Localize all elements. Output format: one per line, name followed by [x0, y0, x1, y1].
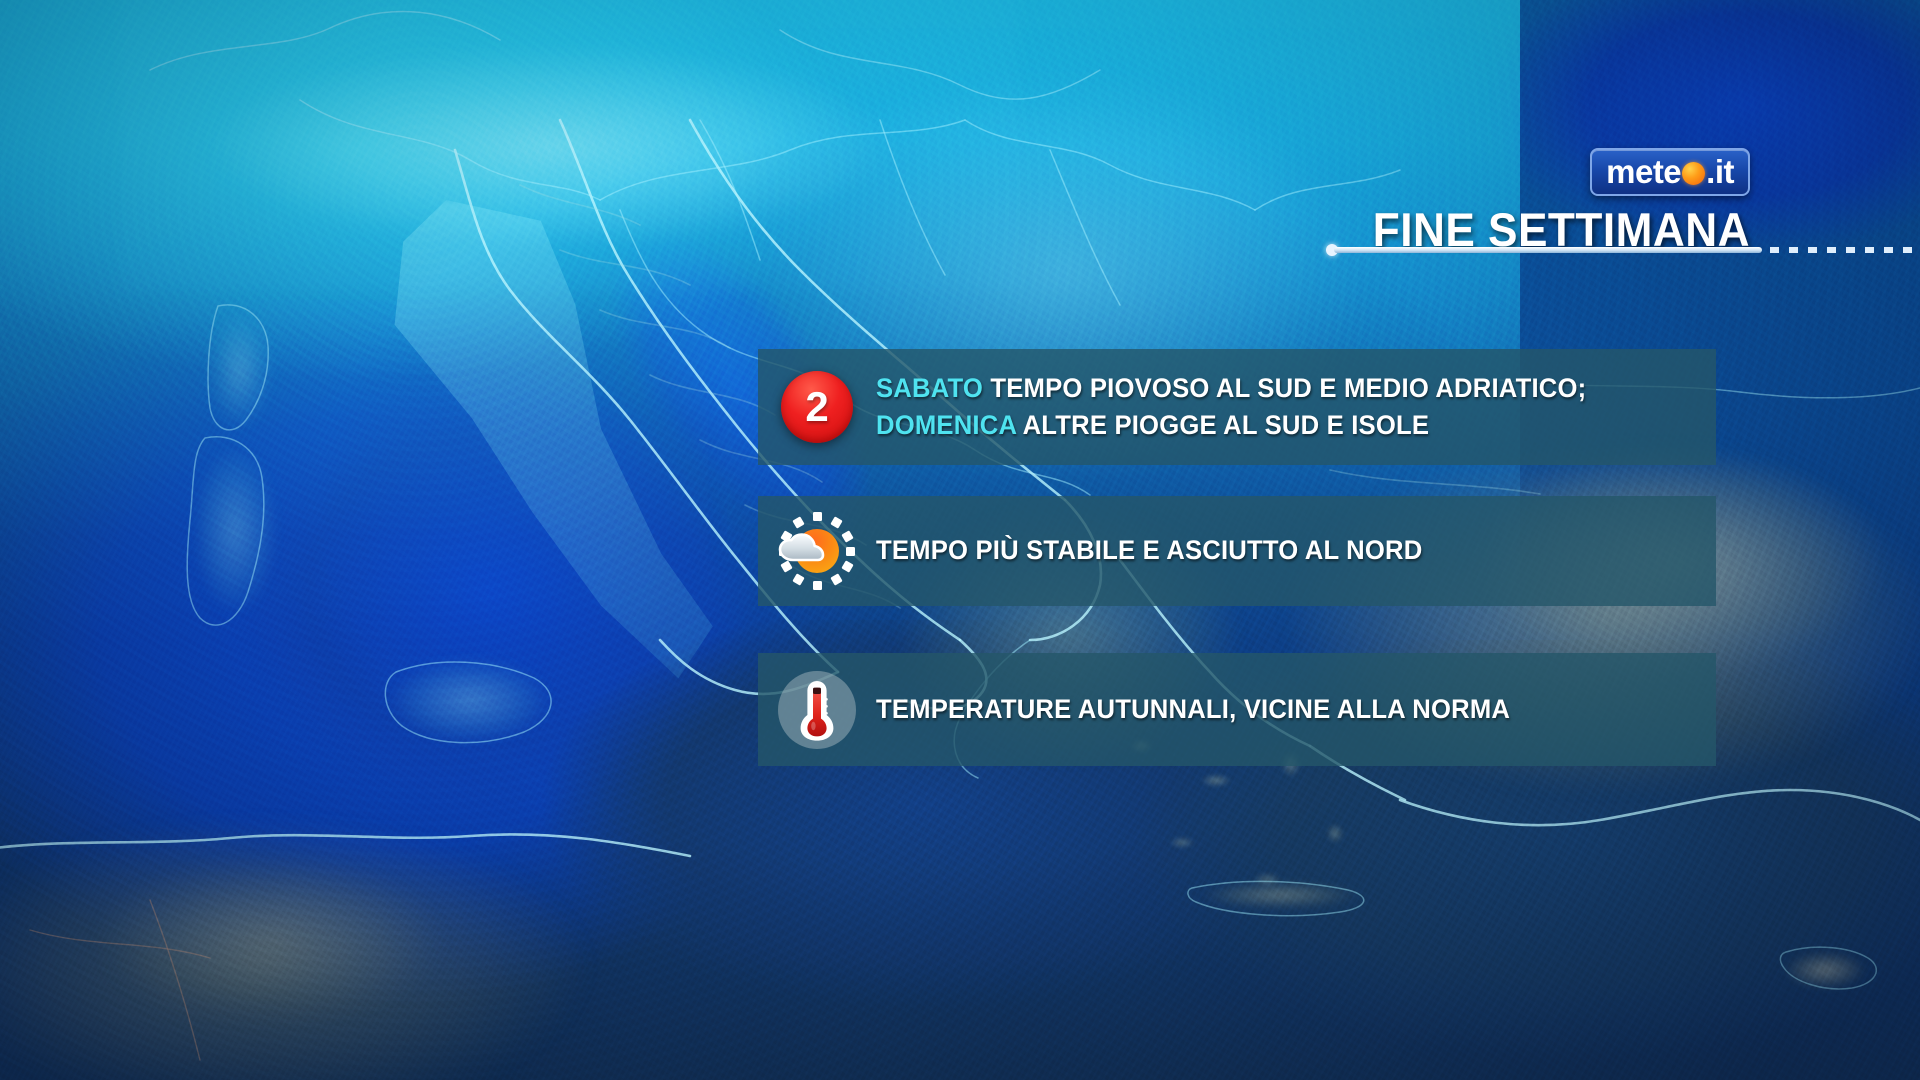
sun-behind-cloud-icon: [776, 510, 858, 592]
forecast-panel-stable: TEMPO PIÙ STABILE E ASCIUTTO AL NORD: [758, 496, 1716, 606]
forecast-panel-rain: 2 SABATO TEMPO PIOVOSO AL SUD E MEDIO AD…: [758, 349, 1716, 465]
timeline-solid-line: [1334, 247, 1762, 253]
badge-value: 2: [805, 383, 828, 431]
thermometer-icon: [778, 671, 856, 749]
logo-prefix: mete: [1606, 155, 1681, 188]
panel-icon-slot: [758, 653, 876, 766]
panel-line-2-highlight: DOMENICA: [876, 410, 1016, 440]
timeline-dashed-line: [1770, 247, 1920, 253]
panel-line-2: DOMENICA ALTRE PIOGGE AL SUD E ISOLE: [876, 407, 1586, 444]
panel-line-1-highlight: SABATO: [876, 373, 983, 403]
panel-icon-slot: [758, 496, 876, 606]
weather-graphic: mete.it FINE SETTIMANA 2 SABATO TEMPO PI…: [0, 0, 1920, 1080]
panel-line-1: SABATO TEMPO PIOVOSO AL SUD E MEDIO ADRI…: [876, 370, 1586, 407]
panel-line-2-rest: ALTRE PIOGGE AL SUD E ISOLE: [1016, 410, 1429, 440]
number-badge-2-icon: 2: [781, 371, 853, 443]
header: mete.it FINE SETTIMANA: [1330, 148, 1750, 257]
panel-text: TEMPO PIÙ STABILE E ASCIUTTO AL NORD: [876, 532, 1440, 569]
meteo-it-logo[interactable]: mete.it: [1590, 148, 1750, 196]
logo-suffix: .it: [1706, 155, 1734, 188]
panel-text: SABATO TEMPO PIOVOSO AL SUD E MEDIO ADRI…: [876, 370, 1603, 445]
panel-icon-slot: 2: [758, 349, 876, 465]
panel-line-1-rest: TEMPO PIOVOSO AL SUD E MEDIO ADRIATICO;: [983, 373, 1586, 403]
forecast-panel-temperature: TEMPERATURE AUTUNNALI, VICINE ALLA NORMA: [758, 653, 1716, 766]
panel-text: TEMPERATURE AUTUNNALI, VICINE ALLA NORMA: [876, 691, 1527, 728]
logo-text: mete.it: [1606, 155, 1734, 188]
orange-dot-icon: [1682, 162, 1705, 185]
timeline-rule: [1326, 243, 1920, 257]
